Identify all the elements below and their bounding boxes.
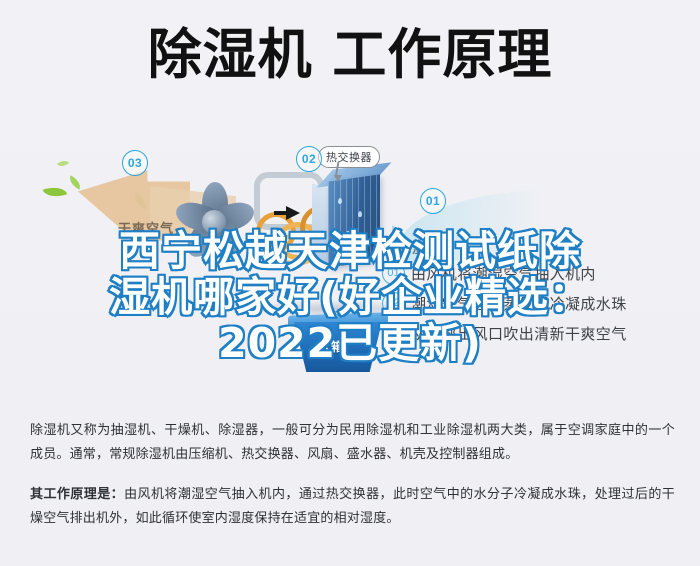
article-paragraph-1: 除湿机又称为抽湿机、干燥机、除湿器，一般可分为民用除湿机和工业除湿机两大类，属于…: [30, 418, 675, 466]
callout-tail-arrow: [334, 175, 342, 182]
heat-exchanger-block: [328, 174, 380, 267]
infographic-title: 除湿机 工作原理: [0, 24, 700, 86]
fan-icon: [168, 176, 260, 268]
leaf-icon: [67, 175, 84, 189]
badge-02: 02: [296, 146, 322, 172]
step-item-03: 03 从上部出风口吹出清新干爽空气: [382, 318, 694, 348]
infographic-image: 除湿机 工作原理 干爽空气: [0, 0, 700, 400]
step-item-01: 01 由风机将潮湿空气抽入机内: [382, 258, 694, 288]
step-number: 02: [382, 292, 405, 315]
step-text: 由风机将潮湿空气抽入机内: [411, 263, 596, 284]
step-text: 从上部出风口吹出清新干爽空气: [411, 323, 627, 344]
badge-03: 03: [122, 150, 148, 176]
airflow-arrow-icon: [286, 206, 300, 220]
article-paragraph-2-rest: 由风机将潮湿空气抽入机内，通过热交换器，此时空气中的水分子冷凝成水珠，处理过后的…: [30, 486, 675, 525]
water-tank-label: 水箱: [318, 338, 344, 355]
article-paragraph-2-lead: 其工作原理是：: [30, 486, 124, 501]
step-item-02: 02 潮湿空气经过蒸发器冷凝成水珠: [382, 288, 694, 318]
heat-exchanger-callout: 热交换器: [318, 146, 380, 168]
badge-01: 01: [420, 188, 446, 214]
leaf-icon: [43, 183, 68, 201]
humid-air-label: 潮湿空气: [398, 238, 454, 257]
dry-air-label: 干爽空气: [118, 218, 174, 237]
leaf-icon: [57, 158, 69, 170]
step-number: 03: [382, 322, 405, 345]
page-root: 除湿机 工作原理 干爽空气: [0, 0, 700, 566]
article-body: 除湿机又称为抽湿机、干燥机、除湿器，一般可分为民用除湿机和工业除湿机两大类，属于…: [30, 418, 675, 546]
step-number: 01: [382, 262, 405, 285]
article-paragraph-2: 其工作原理是：由风机将潮湿空气抽入机内，通过热交换器，此时空气中的水分子冷凝成水…: [30, 482, 675, 530]
step-list: 01 由风机将潮湿空气抽入机内 02 潮湿空气经过蒸发器冷凝成水珠 03 从上部…: [382, 258, 694, 348]
step-text: 潮湿空气经过蒸发器冷凝成水珠: [411, 293, 627, 314]
